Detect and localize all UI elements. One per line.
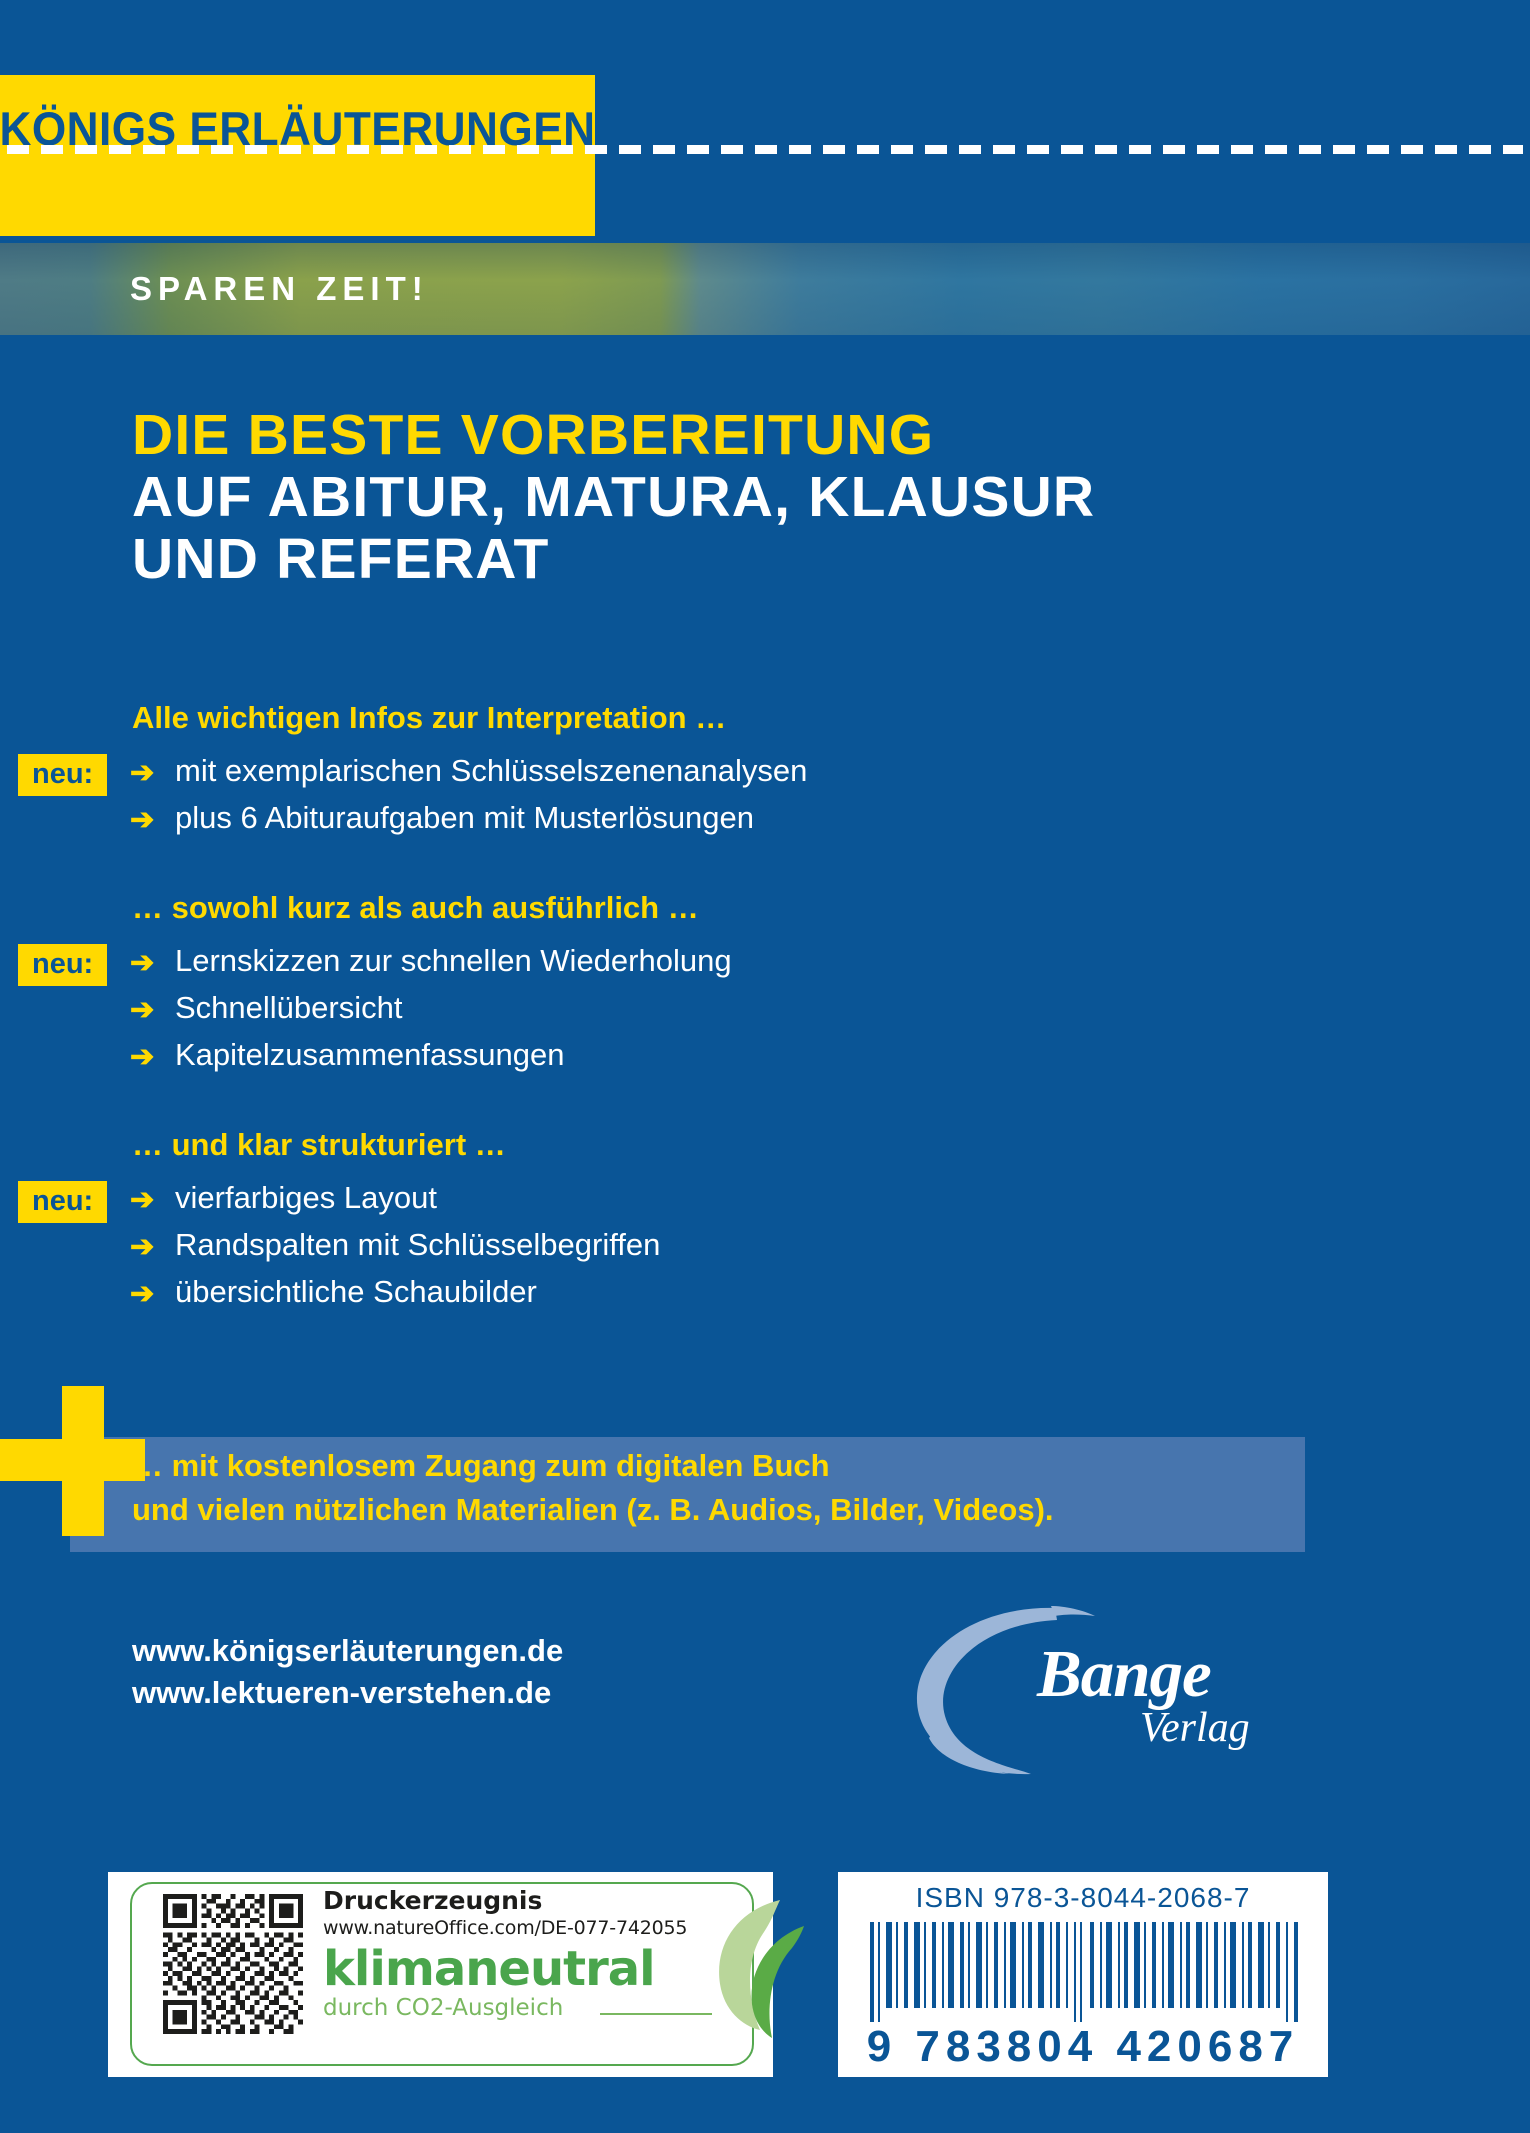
callout-line-1: … mit kostenlosem Zugang zum digitalen B… xyxy=(132,1444,1332,1488)
feature-group-heading: … und klar strukturiert … xyxy=(132,1127,1530,1163)
brand-title: KÖNIGS ERLÄUTERUNGEN xyxy=(18,75,577,181)
list-item: ➔ Kapitelzusammenfassungen xyxy=(0,1036,1530,1083)
list-item: neu: ➔ vierfarbiges Layout xyxy=(0,1179,1530,1226)
certificate-title: Druckerzeugnis xyxy=(323,1886,687,1915)
arrow-icon: ➔ xyxy=(130,1183,154,1217)
isbn-digits: 9 783804 420687 xyxy=(838,2022,1328,2072)
headline-line-2: AUF ABITUR, MATURA, KLAUSUR xyxy=(132,466,1332,528)
link-lektueren-verstehen[interactable]: www.lektueren-verstehen.de xyxy=(132,1672,563,1714)
list-item-label: übersichtliche Schaubilder xyxy=(175,1273,537,1310)
list-item-label: vierfarbiges Layout xyxy=(175,1179,437,1216)
leaf-icon xyxy=(708,1892,818,2042)
certificate-url: www.natureOffice.com/DE-077-742055 xyxy=(323,1917,687,1939)
list-item: ➔ Schnellübersicht xyxy=(0,989,1530,1036)
arrow-icon: ➔ xyxy=(130,1277,154,1311)
list-item-label: Lernskizzen zur schnellen Wiederholung xyxy=(175,942,732,979)
publisher-logo: Bange Verlag xyxy=(905,1600,1305,1780)
list-item: ➔ plus 6 Abituraufgaben mit Musterlösung… xyxy=(0,799,1530,846)
list-item: ➔ Randspalten mit Schlüsselbegriffen xyxy=(0,1226,1530,1273)
publisher-suffix: Verlag xyxy=(1140,1704,1250,1752)
list-item-label: Schnellübersicht xyxy=(175,989,402,1026)
list-item-label: Randspalten mit Schlüsselbegriffen xyxy=(175,1226,660,1263)
headline-line-1: DIE BESTE VORBEREITUNG xyxy=(132,404,1332,466)
publisher-name: Bange xyxy=(1037,1636,1211,1713)
isbn-label: ISBN 978-3-8044-2068-7 xyxy=(838,1882,1328,1914)
arrow-icon: ➔ xyxy=(130,946,154,980)
isbn-barcode-block: ISBN 978-3-8044-2068-7 xyxy=(838,1872,1328,2077)
dashed-divider xyxy=(7,145,1523,154)
feature-group: … und klar strukturiert … neu: ➔ vierfar… xyxy=(0,1127,1530,1320)
list-item: neu: ➔ Lernskizzen zur schnellen Wiederh… xyxy=(0,942,1530,989)
brand-band-bottom xyxy=(0,181,595,236)
tagline-text: SPAREN ZEIT! xyxy=(130,243,429,335)
arrow-icon: ➔ xyxy=(130,993,154,1027)
feature-group-heading: … sowohl kurz als auch ausführlich … xyxy=(132,890,1530,926)
certificate-rule xyxy=(600,2013,712,2015)
link-koenigserlaeuterungen[interactable]: www.königserläuterungen.de xyxy=(132,1630,563,1672)
feature-group: … sowohl kurz als auch ausführlich … neu… xyxy=(0,890,1530,1083)
qr-code-icon xyxy=(163,1894,303,2034)
new-badge: neu: xyxy=(18,1181,107,1223)
digital-access-text: … mit kostenlosem Zugang zum digitalen B… xyxy=(132,1444,1332,1532)
arrow-icon: ➔ xyxy=(130,1230,154,1264)
certificate-claim: klimaneutral xyxy=(323,1943,687,1995)
certificate-subclaim: durch CO2-Ausgleich xyxy=(323,1995,687,2021)
page-title: DIE BESTE VORBEREITUNG AUF ABITUR, MATUR… xyxy=(132,404,1332,590)
headline-line-3: UND REFERAT xyxy=(132,528,1332,590)
feature-list: Alle wichtigen Infos zur Interpretation … xyxy=(0,700,1530,1364)
list-item-label: mit exemplarischen Schlüsselszenenanalys… xyxy=(175,752,807,789)
arrow-icon: ➔ xyxy=(130,803,154,837)
feature-group: Alle wichtigen Infos zur Interpretation … xyxy=(0,700,1530,846)
list-item-label: Kapitelzusammenfassungen xyxy=(175,1036,564,1073)
website-links: www.königserläuterungen.de www.lektueren… xyxy=(132,1630,563,1714)
feature-group-heading: Alle wichtigen Infos zur Interpretation … xyxy=(132,700,1530,736)
list-item-label: plus 6 Abituraufgaben mit Musterlösungen xyxy=(175,799,754,836)
list-item: neu: ➔ mit exemplarischen Schlüsselszene… xyxy=(0,752,1530,799)
new-badge: neu: xyxy=(18,944,107,986)
new-badge: neu: xyxy=(18,754,107,796)
callout-line-2: und vielen nützlichen Materialien (z. B.… xyxy=(132,1488,1332,1532)
arrow-icon: ➔ xyxy=(130,756,154,790)
barcode-icon xyxy=(866,1922,1302,2022)
plus-icon xyxy=(0,1386,105,1536)
certificate-texts: Druckerzeugnis www.natureOffice.com/DE-0… xyxy=(323,1886,687,2021)
book-back-cover: KÖNIGS ERLÄUTERUNGEN SPAREN ZEIT! DIE BE… xyxy=(0,0,1530,2133)
list-item: ➔ übersichtliche Schaubilder xyxy=(0,1273,1530,1320)
klimaneutral-certificate: Druckerzeugnis www.natureOffice.com/DE-0… xyxy=(108,1872,773,2077)
arrow-icon: ➔ xyxy=(130,1040,154,1074)
